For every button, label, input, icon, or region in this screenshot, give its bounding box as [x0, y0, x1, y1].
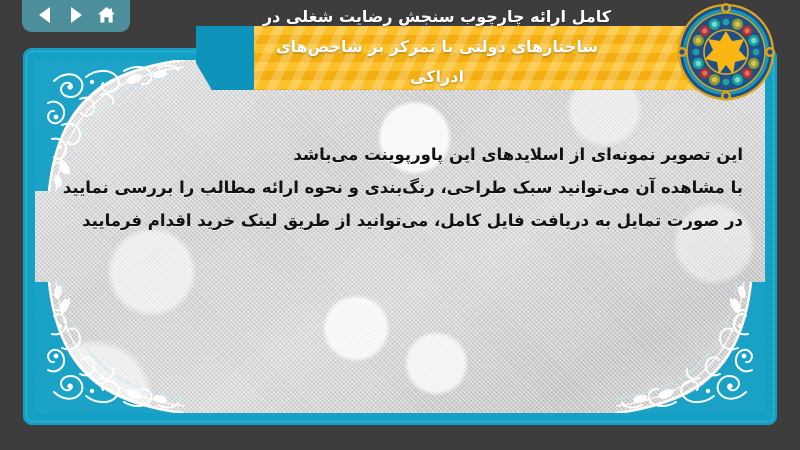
next-slide-button[interactable]	[64, 3, 88, 27]
home-button[interactable]	[95, 3, 119, 27]
previous-slide-button[interactable]	[33, 3, 57, 27]
slide-body-text: این تصویر نمونه‌ای از اسلایدهای این پاور…	[75, 138, 743, 237]
slide-viewer: این تصویر نمونه‌ای از اسلایدهای این پاور…	[0, 0, 800, 450]
body-line-2: با مشاهده آن می‌توانید سبک طراحی، رنگ‌بن…	[75, 171, 743, 204]
slide-canvas: این تصویر نمونه‌ای از اسلایدهای این پاور…	[35, 60, 765, 413]
title-line-1: کامل ارائه چارچوب سنجش رضایت شغلی در	[196, 2, 678, 32]
body-line-1: این تصویر نمونه‌ای از اسلایدهای این پاور…	[75, 138, 743, 171]
islamic-rosette-medallion-icon	[676, 2, 776, 102]
title-line-2: ساختارهای دولتی با تمرکز بر شاخص‌های	[196, 32, 678, 62]
arabesque-corner-ornament-bottom-right	[616, 282, 765, 413]
slide-title: کامل ارائه چارچوب سنجش رضایت شغلی در ساخ…	[196, 2, 678, 106]
arabesque-corner-ornament-bottom-left	[35, 282, 184, 413]
slide-title-banner: کامل ارائه چارچوب سنجش رضایت شغلی در ساخ…	[196, 0, 736, 110]
title-line-3: ادراکی	[196, 62, 678, 92]
triangle-left-icon	[37, 6, 53, 24]
body-line-3: در صورت تمایل به دریافت فایل کامل، می‌تو…	[75, 204, 743, 237]
home-icon	[97, 6, 116, 24]
triangle-right-icon	[68, 6, 84, 24]
navigation-bar	[22, 0, 130, 32]
